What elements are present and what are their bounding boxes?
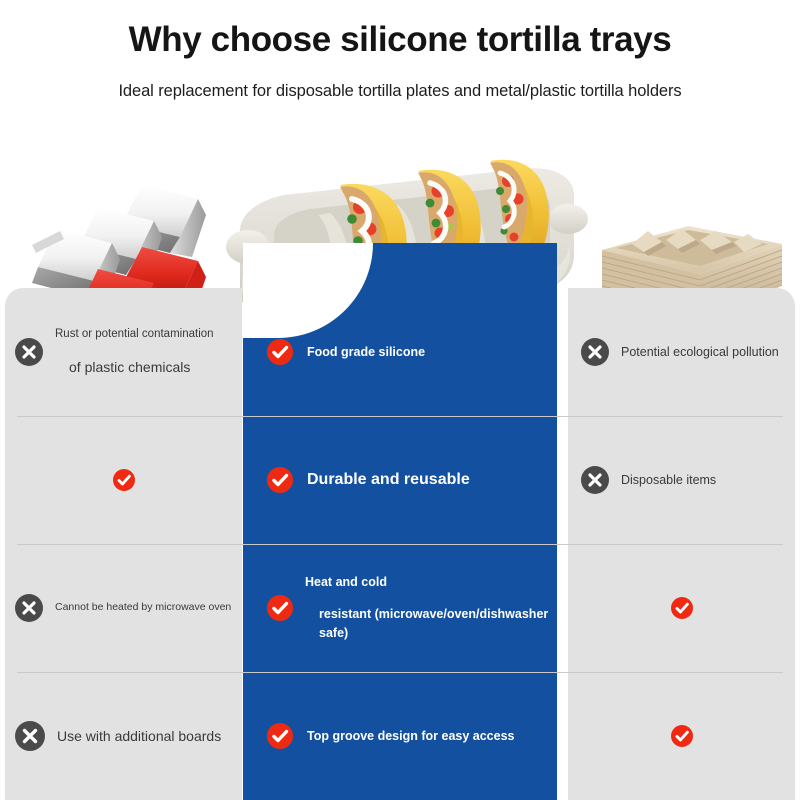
cross-icon — [581, 466, 609, 494]
header: Why choose silicone tortilla trays Ideal… — [0, 0, 800, 101]
row-2-right-cell: Disposable items — [568, 416, 795, 544]
table-row: Cannot be heated by microwave oven Heat … — [0, 544, 800, 672]
row-4-left-cell: Use with additional boards — [5, 672, 242, 800]
check-icon — [267, 467, 293, 493]
row-2-right-text: Disposable items — [621, 471, 716, 490]
cross-icon — [581, 338, 609, 366]
row-1-left-line1: Rust or potential contamination — [55, 326, 214, 343]
row-3-right-cell — [568, 544, 795, 672]
row-3-left-text: Cannot be heated by microwave oven — [55, 600, 231, 616]
table-row: Durable and reusable Disposable items — [0, 416, 800, 544]
check-icon — [671, 725, 693, 747]
page-subtitle: Ideal replacement for disposable tortill… — [0, 60, 800, 101]
cross-icon — [15, 594, 43, 622]
row-1-right-cell: Potential ecological pollution — [568, 288, 795, 416]
check-icon — [267, 339, 293, 365]
row-1-left-text: Rust or potential contamination of plast… — [55, 326, 214, 377]
cross-icon — [15, 338, 43, 366]
table-row: Use with additional boards Top groove de… — [0, 672, 800, 800]
row-2-center-text: Durable and reusable — [307, 468, 470, 492]
row-1-center-text: Food grade silicone — [307, 343, 425, 362]
check-icon — [267, 723, 293, 749]
comparison-rows: Rust or potential contamination of plast… — [0, 288, 800, 800]
row-4-center-cell: Top groove design for easy access — [243, 672, 557, 800]
page-title: Why choose silicone tortilla trays — [0, 0, 800, 60]
row-3-center-line1: Heat and cold — [305, 573, 557, 592]
row-3-left-cell: Cannot be heated by microwave oven — [5, 544, 242, 672]
infographic-page: Why choose silicone tortilla trays Ideal… — [0, 0, 800, 800]
row-2-left-cell — [5, 416, 242, 544]
row-1-left-line2: of plastic chemicals — [69, 357, 214, 378]
row-3-center-cell: Heat and cold resistant (microwave/oven/… — [243, 544, 557, 672]
check-icon — [113, 469, 135, 491]
check-icon — [671, 597, 693, 619]
table-row: Rust or potential contamination of plast… — [0, 288, 800, 416]
row-3-center-text: Heat and cold resistant (microwave/oven/… — [305, 573, 557, 642]
row-1-left-cell: Rust or potential contamination of plast… — [5, 288, 242, 416]
row-4-center-text: Top groove design for easy access — [307, 727, 514, 746]
row-3-center-line2: resistant (microwave/oven/dishwasher saf… — [319, 605, 557, 643]
check-icon — [267, 595, 293, 621]
row-4-right-cell — [568, 672, 795, 800]
row-2-center-cell: Durable and reusable — [243, 416, 557, 544]
row-1-center-cell: Food grade silicone — [243, 288, 557, 416]
row-4-left-text: Use with additional boards — [57, 726, 221, 747]
row-1-right-text: Potential ecological pollution — [621, 343, 779, 362]
cross-icon — [15, 721, 45, 751]
